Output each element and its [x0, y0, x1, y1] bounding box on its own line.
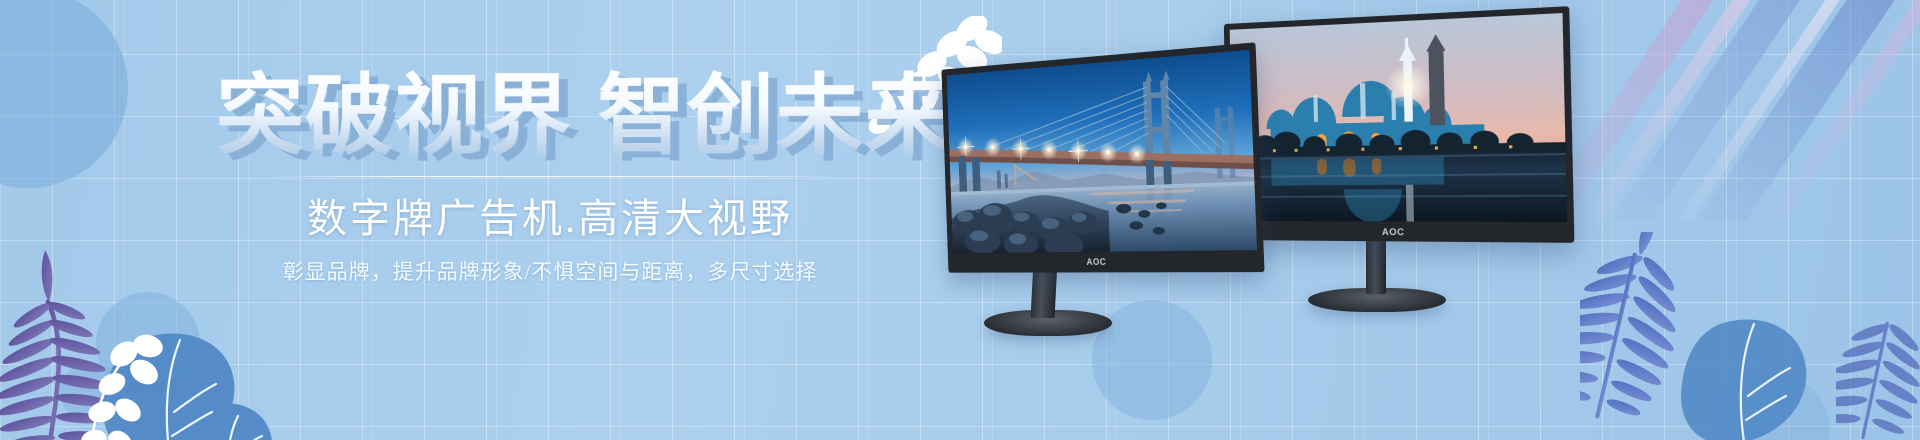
monitor-back[interactable]: AOC [1224, 6, 1575, 243]
monitor-back-screen [1230, 13, 1567, 222]
title-divider [272, 176, 832, 177]
text-block: 突破视界 智创未来 突破视界 智创未来 数字牌广告机.高清大视野 彰显品牌，提升… [0, 0, 900, 440]
page-title: 突破视界 智创未来 突破视界 智创未来 [216, 68, 896, 173]
page-title-text: 突破视界 智创未来 [216, 66, 953, 165]
monitor-front-bezel: AOC [948, 250, 1265, 273]
monitor-back-bezel: AOC [1228, 221, 1575, 243]
monitor-front[interactable]: AOC [941, 42, 1264, 272]
brand-logo: AOC [1382, 226, 1405, 237]
product-image-group: AOC [880, 0, 1920, 440]
monitor-front-screen [947, 50, 1257, 253]
brand-logo: AOC [1086, 257, 1106, 267]
promo-banner: 突破视界 智创未来 突破视界 智创未来 数字牌广告机.高清大视野 彰显品牌，提升… [0, 0, 1920, 440]
